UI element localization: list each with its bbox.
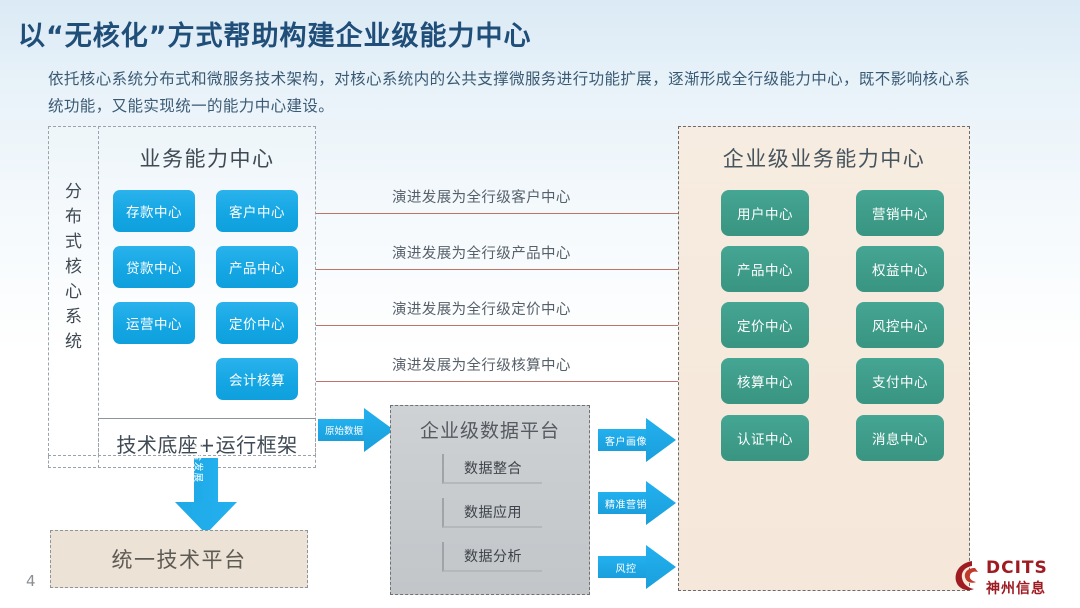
ent-box-marketing[interactable]: 营销中心 <box>856 190 944 236</box>
evolution-label-accounting: 演进发展为全行级核算中心 <box>392 354 571 375</box>
evolution-label-customer: 演进发展为全行级客户中心 <box>392 186 571 207</box>
ent-box-payment[interactable]: 支付中心 <box>856 358 944 404</box>
business-capability-center-panel <box>98 126 316 456</box>
output-arrow-label-risk-control: 风控 <box>601 560 651 575</box>
vert-char-4: 心 <box>52 280 96 305</box>
ent-box-accounting[interactable]: 核算中心 <box>721 358 809 404</box>
ent-box-pricing[interactable]: 定价中心 <box>721 302 809 348</box>
dcits-swirl-icon <box>952 559 982 593</box>
evolution-label-product: 演进发展为全行级产品中心 <box>392 242 571 263</box>
page-title: 以“无核化”方式帮助构建企业级能力中心 <box>18 14 532 53</box>
output-arrow-risk-control: 风控 <box>598 545 676 589</box>
capability-box-customer[interactable]: 客户中心 <box>216 190 298 232</box>
enterprise-data-platform-title: 企业级数据平台 <box>390 416 590 443</box>
vert-char-1: 布 <box>52 205 96 230</box>
output-arrow-label-customer-profile: 客户画像 <box>601 433 651 448</box>
capability-box-loan[interactable]: 贷款中心 <box>113 246 195 288</box>
capability-box-pricing[interactable]: 定价中心 <box>216 302 298 344</box>
page-number: 4 <box>26 572 36 590</box>
data-platform-item-integration[interactable]: 数据整合 <box>442 454 542 484</box>
raw-data-arrow: 原始数据 <box>318 408 394 452</box>
unified-technology-platform: 统一技术平台 <box>50 530 308 588</box>
distributed-core-system-label: 分 布 式 核 心 系 统 <box>52 180 96 355</box>
ent-box-risk-control[interactable]: 风控中心 <box>856 302 944 348</box>
capability-box-product[interactable]: 产品中心 <box>216 246 298 288</box>
capability-box-deposit[interactable]: 存款中心 <box>113 190 195 232</box>
data-platform-item-application[interactable]: 数据应用 <box>442 498 542 528</box>
output-arrow-label-precision-marketing: 精准营销 <box>601 496 651 511</box>
ent-box-authentication[interactable]: 认证中心 <box>721 415 809 461</box>
logo-text-en: DCITS <box>986 558 1048 578</box>
ent-box-user[interactable]: 用户中心 <box>721 190 809 236</box>
logo-text-cn: 神州信息 <box>986 578 1046 598</box>
integration-down-arrow: 融合发展 <box>175 458 237 534</box>
output-arrow-customer-profile: 客户画像 <box>598 418 676 462</box>
raw-data-arrow-label: 原始数据 <box>319 423 369 437</box>
enterprise-capability-center-title: 企业级业务能力中心 <box>678 143 970 173</box>
capability-box-operation[interactable]: 运营中心 <box>113 302 195 344</box>
ent-box-message[interactable]: 消息中心 <box>856 415 944 461</box>
evolution-label-pricing: 演进发展为全行级定价中心 <box>392 298 571 319</box>
down-arrow-label: 融合发展 <box>192 441 206 483</box>
business-capability-center-title: 业务能力中心 <box>98 143 316 173</box>
output-arrow-precision-marketing: 精准营销 <box>598 481 676 525</box>
vert-char-5: 系 <box>52 305 96 330</box>
page-subtitle: 依托核心系统分布式和微服务技术架构，对核心系统内的公共支撑微服务进行功能扩展，逐… <box>48 66 978 120</box>
vert-char-3: 核 <box>52 255 96 280</box>
vert-char-0: 分 <box>52 180 96 205</box>
vert-char-6: 统 <box>52 330 96 355</box>
capability-box-accounting[interactable]: 会计核算 <box>216 358 298 400</box>
vert-char-2: 式 <box>52 230 96 255</box>
ent-box-rights[interactable]: 权益中心 <box>856 246 944 292</box>
ent-box-product[interactable]: 产品中心 <box>721 246 809 292</box>
slide-canvas: 以“无核化”方式帮助构建企业级能力中心 依托核心系统分布式和微服务技术架构，对核… <box>0 0 1080 608</box>
data-platform-item-analysis[interactable]: 数据分析 <box>442 542 542 572</box>
company-logo: DCITS 神州信息 <box>952 556 1070 600</box>
